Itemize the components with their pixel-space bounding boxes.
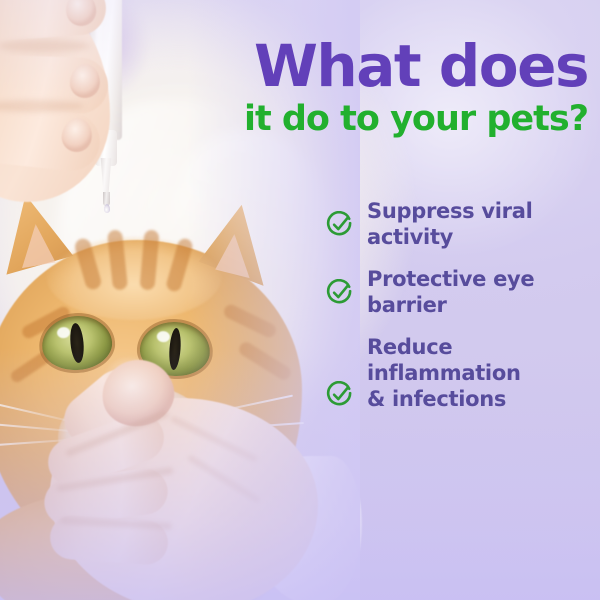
benefit-item: Protective eye barrier [326, 266, 578, 318]
benefits-list: Suppress viral activity Protective eye b… [326, 198, 578, 412]
benefit-line: barrier [367, 293, 447, 317]
benefit-line: Protective eye [367, 267, 534, 291]
headline-primary: What does [196, 36, 588, 96]
benefit-line: & infections [367, 387, 506, 411]
benefit-item: Suppress viral activity [326, 198, 578, 250]
benefit-line: activity [367, 225, 453, 249]
headline-block: What does it do to your pets? [196, 36, 588, 139]
benefit-line: Suppress viral [367, 199, 532, 223]
check-circle-icon [326, 381, 353, 408]
promo-poster: What does it do to your pets? Suppress v… [0, 0, 600, 600]
check-circle-icon [326, 279, 353, 306]
benefit-text: Suppress viral activity [367, 198, 532, 250]
knuckle-shadow [0, 40, 90, 52]
benefit-text: Reduce inflammation & infections [367, 334, 521, 412]
hand-holding-bottle [0, 0, 198, 222]
benefit-line: inflammation [367, 361, 521, 385]
check-circle-icon [326, 211, 353, 238]
benefit-text: Protective eye barrier [367, 266, 534, 318]
benefit-line: Reduce [367, 335, 452, 359]
benefit-item: Reduce inflammation & infections [326, 334, 578, 412]
headline-secondary: it do to your pets? [196, 99, 588, 139]
cat-forehead [46, 232, 222, 320]
